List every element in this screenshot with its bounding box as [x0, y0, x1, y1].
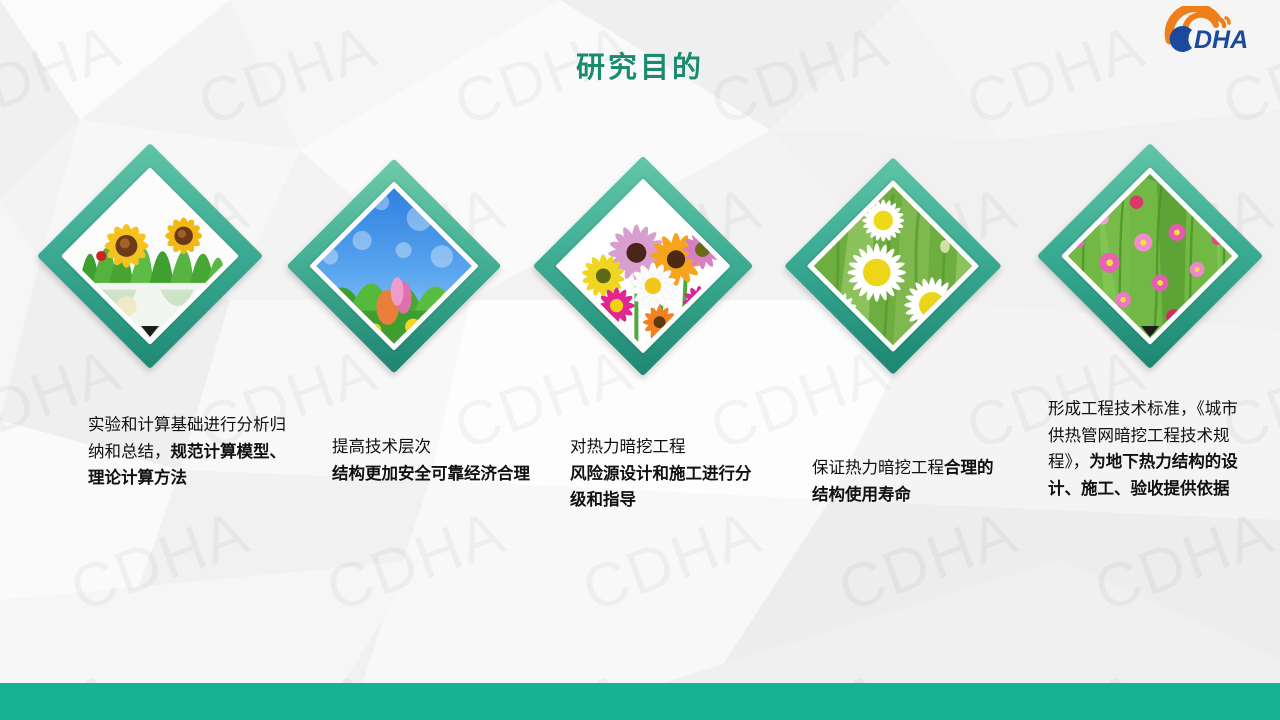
diamond-pointer-1	[141, 326, 159, 337]
item-text-1: 实验和计算基础进行分析归纳和总结，规范计算模型、理论计算方法	[88, 412, 288, 492]
item-text-4: 保证热力暗挖工程合理的结构使用寿命	[812, 455, 1004, 508]
diamond-photo-2	[309, 181, 479, 351]
item-text-4-normal: 保证热力暗挖工程	[812, 459, 944, 477]
diamond-photo-1	[61, 167, 239, 345]
cdha-logo: DHA	[1156, 6, 1272, 52]
diamond-photo-3	[555, 178, 730, 353]
item-text-3-bold: 风险源设计和施工进行分级和指导	[570, 465, 752, 510]
item-text-2: 提高技术层次 结构更加安全可靠经济合理	[332, 434, 530, 487]
bottom-accent-bar	[0, 683, 1280, 720]
diamond-image-5[interactable]	[1070, 176, 1230, 336]
diamond-photo-5	[1061, 167, 1239, 345]
diamond-image-2[interactable]	[318, 190, 470, 342]
diamond-pointer-5	[1141, 326, 1159, 337]
logo-wordmark: DHA	[1170, 26, 1249, 52]
diamond-photo-4	[807, 180, 980, 353]
diamond-image-1[interactable]	[70, 176, 230, 336]
diamond-image-4[interactable]	[816, 189, 970, 343]
item-text-5: 形成工程技术标准，《城市供热管网暗挖工程技术规程》，为地下热力结构的设计、施工、…	[1048, 396, 1248, 503]
svg-text:DHA: DHA	[1194, 26, 1248, 52]
item-text-3-normal: 对热力暗挖工程	[570, 438, 686, 456]
item-text-3: 对热力暗挖工程 风险源设计和施工进行分级和指导	[570, 434, 760, 514]
page-title: 研究目的	[0, 44, 1280, 86]
item-text-2-bold: 结构更加安全可靠经济合理	[332, 465, 530, 483]
item-text-2-normal: 提高技术层次	[332, 438, 431, 456]
diamond-image-3[interactable]	[565, 188, 721, 344]
slide-canvas: CDHACDHACDHACDHACDHACDHACDHACDHACDHACDHA…	[0, 0, 1280, 720]
